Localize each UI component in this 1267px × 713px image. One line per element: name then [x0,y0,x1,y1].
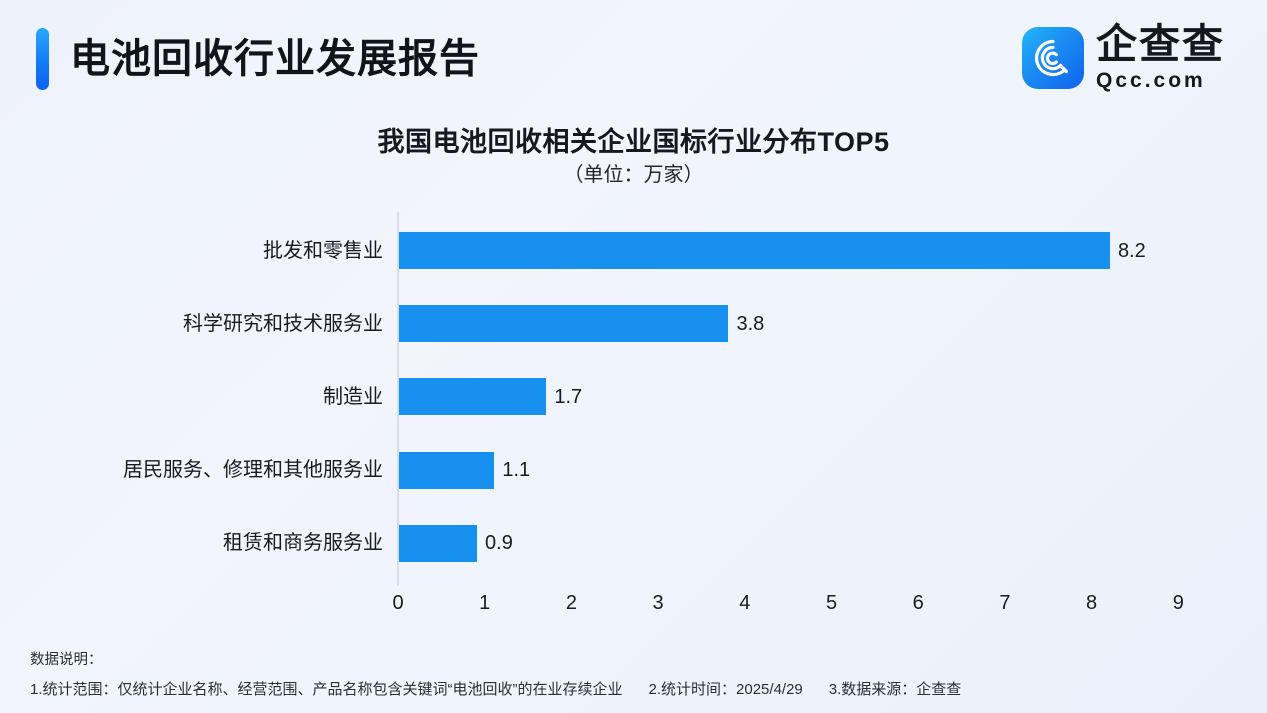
bar-value-label: 3.8 [736,312,764,336]
bar-value-label: 8.2 [1118,239,1146,263]
category-label: 批发和零售业 [263,239,383,263]
x-tick-label: 7 [985,592,1025,615]
x-tick-label: 5 [812,592,852,615]
category-label: 制造业 [323,385,383,409]
bar [399,525,477,562]
x-tick-label: 9 [1158,592,1198,615]
bar-value-label: 1.1 [502,458,530,482]
category-label: 科学研究和技术服务业 [183,312,383,336]
bar [399,378,546,415]
category-label: 居民服务、修理和其他服务业 [123,458,383,482]
footer-note-scope: 1.统计范围：仅统计企业名称、经营范围、产品名称包含关键词“电池回收”的在业存续… [30,678,623,699]
footer-note-time: 2.统计时间：2025/4/29 [649,678,803,699]
footer-heading: 数据说明： [30,648,1240,669]
x-tick-label: 2 [551,592,591,615]
footer-notes: 数据说明： 1.统计范围：仅统计企业名称、经营范围、产品名称包含关键词“电池回收… [30,648,1240,699]
bar-value-label: 1.7 [554,385,582,409]
x-tick-label: 0 [378,592,418,615]
category-label: 租赁和商务服务业 [223,531,383,555]
bar-chart: 批发和零售业8.2科学研究和技术服务业3.8制造业1.7居民服务、修理和其他服务… [0,0,1267,713]
x-tick-label: 8 [1072,592,1112,615]
x-tick-label: 3 [638,592,678,615]
bar [399,232,1110,269]
bar-value-label: 0.9 [485,531,513,555]
bar [399,452,494,489]
x-tick-label: 4 [725,592,765,615]
bar [399,305,728,342]
footer-note-source: 3.数据来源：企查查 [829,678,962,699]
x-tick-label: 1 [465,592,505,615]
x-tick-label: 6 [898,592,938,615]
